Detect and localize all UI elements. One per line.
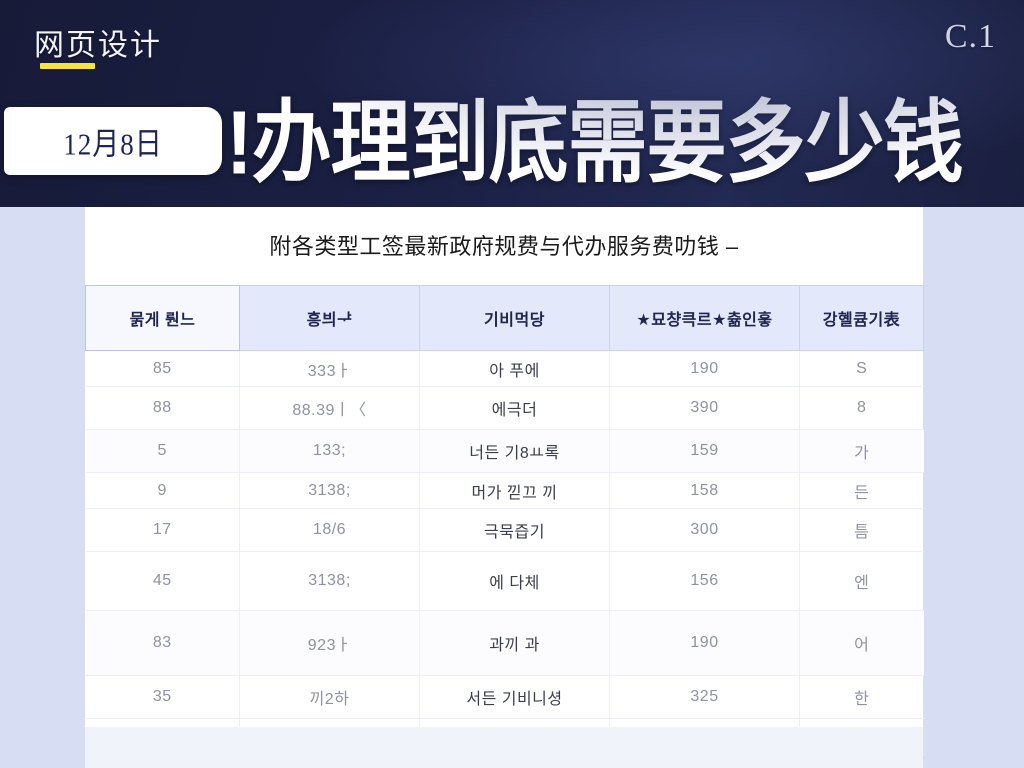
cell-c0: 45 [86, 552, 240, 611]
cell-c3: 300 [610, 509, 800, 552]
cell-c1: 끼2하 [240, 676, 420, 719]
table-row[interactable]: 88 88.39ㅣ〈 에극더 390 8 [86, 387, 924, 430]
cell-c3: 159 [610, 430, 800, 473]
cell-c0: 9 [86, 473, 240, 509]
col-header-1[interactable]: 흥븨ᅷ [240, 286, 420, 351]
cell-c0: 83 [86, 611, 240, 676]
table-row[interactable]: 83 923ㅏ 과끼 과 190 어 [86, 611, 924, 676]
cell-c1: 3138; [240, 552, 420, 611]
col-header-3[interactable]: ★묘챵큭르★츎인흫 [610, 286, 800, 351]
cell-c0: 35 [86, 676, 240, 719]
date-chip-label: 12月8日 [63, 119, 163, 164]
cell-c2: 에극더 [420, 387, 610, 430]
cell-c3: 190 [610, 351, 800, 387]
cell-c3: 156 [610, 552, 800, 611]
date-chip: 12月8日 [4, 107, 222, 175]
cell-c1: 3138; [240, 473, 420, 509]
kicker-underline-accent [40, 63, 95, 69]
cell-c2: 서든 기비니셩 [420, 676, 610, 719]
col-header-2[interactable]: 기비먹당 [420, 286, 610, 351]
table-row[interactable]: 45 3138; 에 다체 156 엔 [86, 552, 924, 611]
cell-c0: 17 [86, 509, 240, 552]
fee-table-container: 묽게 뤈느 흥븨ᅷ 기비먹당 ★묘챵큭르★츎인흫 강혤큠기表 85 333ㅏ 아… [85, 285, 923, 768]
cell-c4: 틈 [800, 509, 924, 552]
cell-c1: 923ㅏ [240, 611, 420, 676]
hero-banner: 网页设计 C.1 12月8日 !办理到底需要多少钱 [0, 0, 1024, 207]
cell-c1: 133; [240, 430, 420, 473]
cell-c2: 머가 낃끄 끼 [420, 473, 610, 509]
fee-table: 묽게 뤈느 흥븨ᅷ 기비먹당 ★묘챵큭르★츎인흫 강혤큠기表 85 333ㅏ 아… [85, 285, 924, 768]
cell-c4: 든 [800, 473, 924, 509]
cell-c1: 18/6 [240, 509, 420, 552]
cell-c2: 아 푸에 [420, 351, 610, 387]
table-row[interactable]: 5 133; 너든 기8ㅛ록 159 가 [86, 430, 924, 473]
cell-c2: 극묵즙기 [420, 509, 610, 552]
table-header-row: 묽게 뤈느 흥븨ᅷ 기비먹당 ★묘챵큭르★츎인흫 강혤큠기表 [86, 286, 924, 351]
kicker-label: 网页设计 [34, 20, 162, 64]
table-row[interactable]: 17 18/6 극묵즙기 300 틈 [86, 509, 924, 552]
table-body: 85 333ㅏ 아 푸에 190 S 88 88.39ㅣ〈 에극더 390 8 [86, 351, 924, 768]
content-card: 附各类型工签最新政府规费与代办服务费叻钱 – 묽게 뤈느 흥븨ᅷ 기비먹당 ★묘… [85, 207, 923, 727]
table-row[interactable]: 85 333ㅏ 아 푸에 190 S [86, 351, 924, 387]
col-header-4[interactable]: 강혤큠기表 [800, 286, 924, 351]
cell-c1: 88.39ㅣ〈 [240, 387, 420, 430]
cell-c3: 190 [610, 611, 800, 676]
cell-c4: 엔 [800, 552, 924, 611]
cell-c0: 88 [86, 387, 240, 430]
cell-c2: 에 다체 [420, 552, 610, 611]
cell-c4: 가 [800, 430, 924, 473]
slide-root: 网页设计 C.1 12月8日 !办理到底需要多少钱 附各类型工签最新政府规费与代… [0, 0, 1024, 768]
brand-logo: C.1 [945, 18, 996, 56]
cell-c0: 5 [86, 430, 240, 473]
table-row[interactable]: 9 3138; 머가 낃끄 끼 158 든 [86, 473, 924, 509]
card-footer-strip [85, 727, 923, 768]
table-row[interactable]: 35 끼2하 서든 기비니셩 325 한 [86, 676, 924, 719]
headline: !办理到底需要多少钱 [226, 96, 963, 190]
cell-c1: 333ㅏ [240, 351, 420, 387]
subtitle: 附各类型工签最新政府规费与代办服务费叻钱 – [85, 229, 923, 261]
cell-c3: 325 [610, 676, 800, 719]
cell-c2: 과끼 과 [420, 611, 610, 676]
cell-c2: 너든 기8ㅛ록 [420, 430, 610, 473]
cell-c4: 한 [800, 676, 924, 719]
cell-c3: 158 [610, 473, 800, 509]
cell-c4: S [800, 351, 924, 387]
col-header-0[interactable]: 묽게 뤈느 [86, 286, 240, 351]
cell-c0: 85 [86, 351, 240, 387]
cell-c4: 8 [800, 387, 924, 430]
cell-c3: 390 [610, 387, 800, 430]
cell-c4: 어 [800, 611, 924, 676]
